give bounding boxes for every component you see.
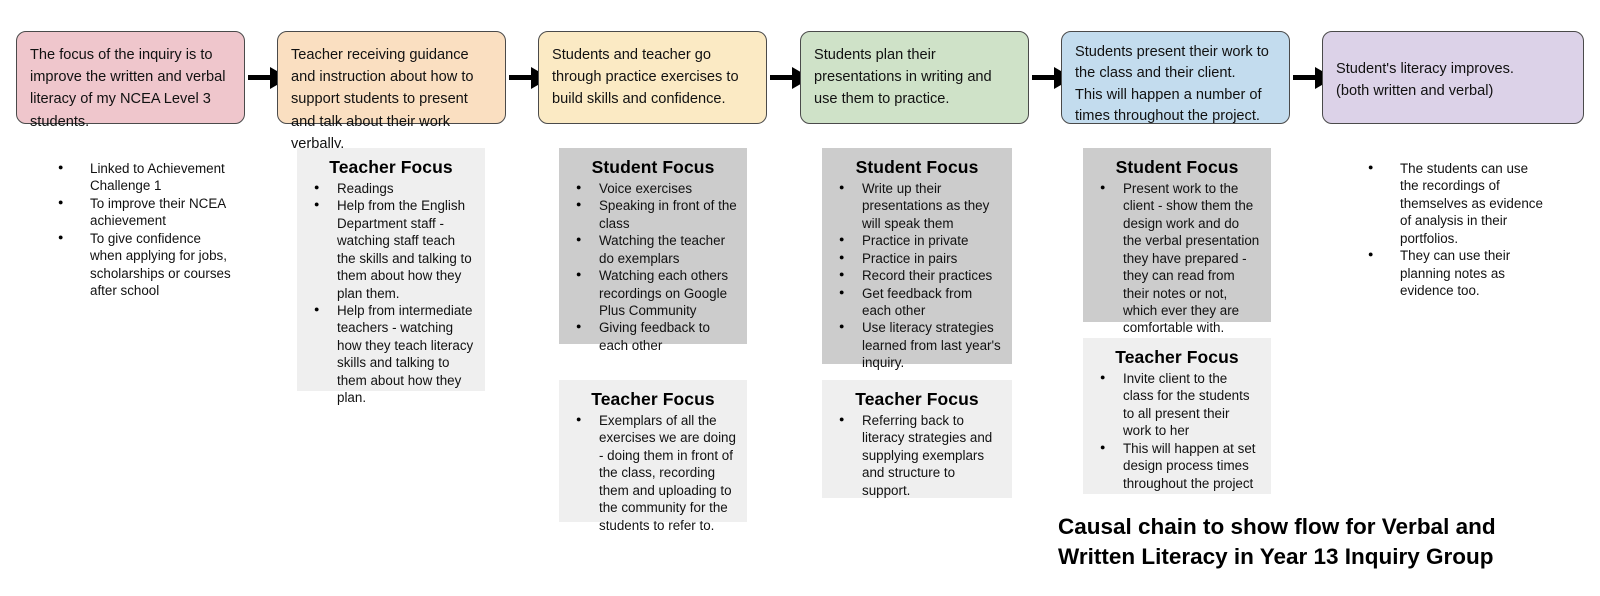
detail-panel-col5-teacher: Teacher Focus Invite client to the class… [1083, 338, 1271, 494]
panel-list-item: Speaking in front of the class [589, 197, 737, 232]
panel-list-item: Practice in pairs [852, 250, 1002, 267]
flow-step-box-4[interactable]: Students plan their presentations in wri… [800, 31, 1029, 124]
panel-list-item: Voice exercises [589, 180, 737, 197]
detail-panel-col3-teacher: Teacher Focus Exemplars of all the exerc… [559, 380, 747, 522]
panel-list-item: Exemplars of all the exercises we are do… [589, 412, 737, 534]
panel-list: Referring back to literacy strategies an… [832, 412, 1002, 499]
detail-panel-col1: Linked to Achievement Challenge 1To impr… [38, 152, 243, 309]
diagram-canvas: The focus of the inquiry is to improve t… [0, 0, 1600, 596]
panel-list: Linked to Achievement Challenge 1To impr… [48, 160, 233, 299]
flow-step-box-3[interactable]: Students and teacher go through practice… [538, 31, 767, 124]
detail-panel-col2-teacher: Teacher Focus ReadingsHelp from the Engl… [297, 148, 485, 391]
panel-title: Teacher Focus [569, 389, 737, 410]
panel-list-item: Referring back to literacy strategies an… [852, 412, 1002, 499]
panel-list-item: Help from intermediate teachers - watchi… [327, 302, 475, 407]
panel-title: Student Focus [569, 157, 737, 178]
panel-list-item: Use literacy strategies learned from las… [852, 319, 1002, 371]
panel-list-item: Write up their presentations as they wil… [852, 180, 1002, 232]
panel-list-item: To improve their NCEA achievement [78, 195, 233, 230]
panel-list-item: They can use their planning notes as evi… [1388, 247, 1543, 299]
panel-title: Teacher Focus [307, 157, 475, 178]
panel-list-item: Present work to the client - show them t… [1113, 180, 1261, 337]
detail-panel-col3-student: Student Focus Voice exercisesSpeaking in… [559, 148, 747, 344]
panel-list-item: Watching each others recordings on Googl… [589, 267, 737, 319]
panel-list-item: Practice in private [852, 232, 1002, 249]
flow-step-box-1[interactable]: The focus of the inquiry is to improve t… [16, 31, 245, 124]
panel-list-item: The students can use the recordings of t… [1388, 160, 1543, 247]
flow-step-box-5[interactable]: Students present their work to the class… [1061, 31, 1290, 124]
panel-list-item: Help from the English Department staff -… [327, 197, 475, 302]
panel-list: Present work to the client - show them t… [1093, 180, 1261, 337]
flow-step-box-6[interactable]: Student's literacy improves. (both writt… [1322, 31, 1584, 124]
panel-list: ReadingsHelp from the English Department… [307, 180, 475, 406]
panel-list: The students can use the recordings of t… [1358, 160, 1543, 299]
panel-list-item: Readings [327, 180, 475, 197]
panel-list: Voice exercisesSpeaking in front of the … [569, 180, 737, 354]
panel-title: Student Focus [832, 157, 1002, 178]
detail-panel-col4-student: Student Focus Write up their presentatio… [822, 148, 1012, 364]
diagram-caption: Causal chain to show flow for Verbal and… [1058, 512, 1598, 572]
panel-list-item: Get feedback from each other [852, 285, 1002, 320]
panel-list: Exemplars of all the exercises we are do… [569, 412, 737, 534]
panel-list-item: Watching the teacher do exemplars [589, 232, 737, 267]
panel-list-item: Invite client to the class for the stude… [1113, 370, 1261, 440]
detail-panel-col6: The students can use the recordings of t… [1348, 152, 1553, 309]
panel-title: Teacher Focus [1093, 347, 1261, 368]
panel-list: Invite client to the class for the stude… [1093, 370, 1261, 492]
panel-list-item: Linked to Achievement Challenge 1 [78, 160, 233, 195]
panel-list-item: To give confidence when applying for job… [78, 230, 233, 300]
flow-step-box-2[interactable]: Teacher receiving guidance and instructi… [277, 31, 506, 124]
panel-list: Write up their presentations as they wil… [832, 180, 1002, 372]
panel-title: Teacher Focus [832, 389, 1002, 410]
panel-list-item: This will happen at set design process t… [1113, 440, 1261, 492]
panel-list-item: Record their practices [852, 267, 1002, 284]
detail-panel-col5-student: Student Focus Present work to the client… [1083, 148, 1271, 322]
panel-title: Student Focus [1093, 157, 1261, 178]
panel-list-item: Giving feedback to each other [589, 319, 737, 354]
detail-panel-col4-teacher: Teacher Focus Referring back to literacy… [822, 380, 1012, 498]
